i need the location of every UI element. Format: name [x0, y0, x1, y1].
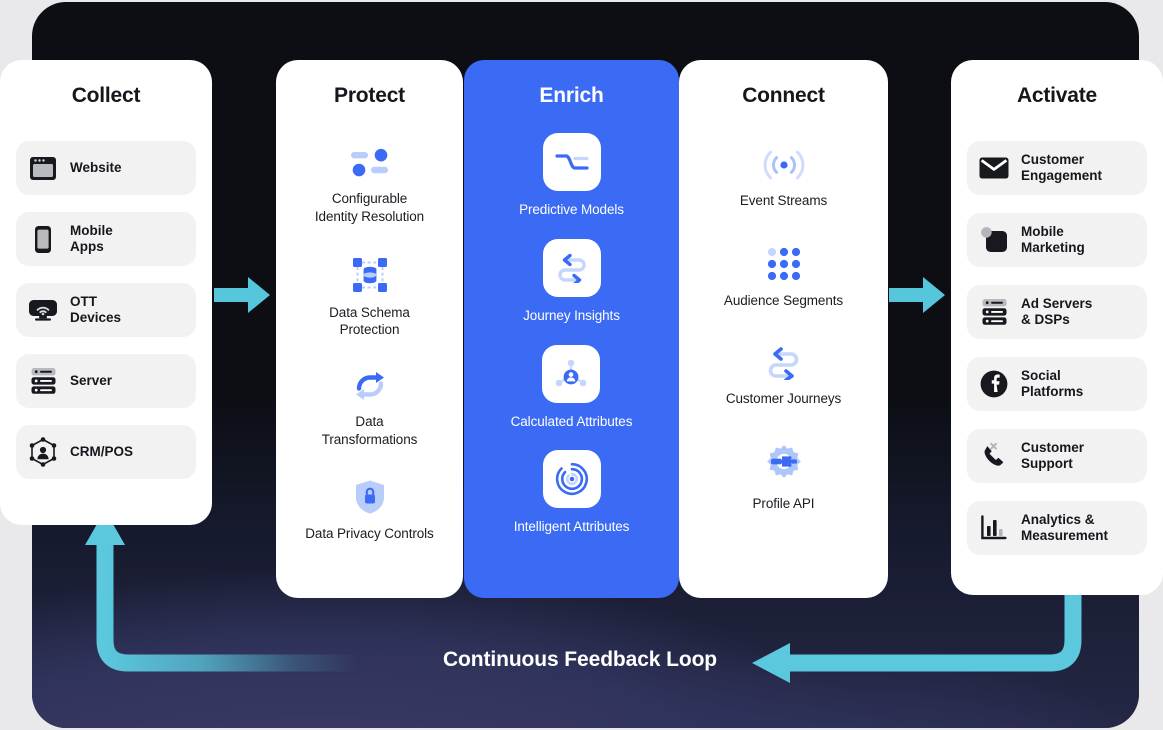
- list-item-label: Social Platforms: [1021, 368, 1083, 401]
- feature-data-privacy-controls[interactable]: Data Privacy Controls: [290, 479, 449, 543]
- database-schema-icon: [351, 256, 389, 294]
- list-item-analytics-measurement[interactable]: Analytics & Measurement: [967, 501, 1147, 555]
- refresh-cycle-icon: [352, 369, 388, 403]
- feature-label: Profile API: [753, 495, 815, 513]
- list-item-ad-servers-dsps[interactable]: Ad Servers & DSPs: [967, 285, 1147, 339]
- arrow-collect-to-protect: [214, 275, 272, 315]
- list-item-label: Customer Support: [1021, 440, 1084, 473]
- feature-label: Customer Journeys: [726, 390, 841, 408]
- feature-predictive-models[interactable]: Predictive Models: [519, 133, 624, 219]
- gear-plug-icon: [763, 443, 805, 485]
- feature-label: Audience Segments: [724, 292, 843, 310]
- list-item-crm-pos[interactable]: CRM/POS: [16, 425, 196, 479]
- list-item-website[interactable]: Website: [16, 141, 196, 195]
- customer-network-icon: [28, 437, 58, 467]
- feature-label: Journey Insights: [523, 307, 620, 325]
- list-item-server[interactable]: Server: [16, 354, 196, 408]
- feature-audience-segments[interactable]: Audience Segments: [693, 246, 874, 310]
- list-item-label: Customer Engagement: [1021, 152, 1102, 185]
- column-title-collect: Collect: [16, 84, 196, 108]
- intelligent-attributes-tile: [543, 450, 601, 508]
- feedback-loop-label: Continuous Feedback Loop: [430, 648, 730, 672]
- step-line-chart-icon: [555, 149, 589, 175]
- feature-label: Predictive Models: [519, 201, 624, 219]
- column-title-connect: Connect: [693, 84, 874, 108]
- feature-label: Configurable Identity Resolution: [315, 190, 424, 226]
- feature-data-schema-protection[interactable]: Data Schema Protection: [290, 256, 449, 340]
- list-item-mobile-marketing[interactable]: Mobile Marketing: [967, 213, 1147, 267]
- streaming-device-icon: [28, 295, 58, 325]
- list-item-customer-engagement[interactable]: Customer Engagement: [967, 141, 1147, 195]
- server-rack-icon: [28, 366, 58, 396]
- feature-label: Event Streams: [740, 192, 827, 210]
- feature-intelligent-attributes[interactable]: Intelligent Attributes: [514, 450, 630, 536]
- predictive-models-tile: [543, 133, 601, 191]
- concentric-target-icon: [555, 462, 589, 496]
- feature-calculated-attributes[interactable]: Calculated Attributes: [511, 345, 633, 431]
- phone-headset-icon: [979, 441, 1009, 471]
- journey-insights-tile: [543, 239, 601, 297]
- list-item-label: Mobile Apps: [70, 223, 113, 256]
- journey-arrows-icon: [765, 346, 803, 380]
- person-node-graph-icon: [554, 358, 588, 390]
- calculated-attributes-tile: [542, 345, 600, 403]
- feature-label: Intelligent Attributes: [514, 518, 630, 536]
- bar-chart-icon: [979, 513, 1009, 543]
- column-connect: Connect Event Streams: [679, 60, 888, 598]
- feature-configurable-identity-resolution[interactable]: Configurable Identity Resolution: [290, 146, 449, 226]
- mobile-push-icon: [979, 225, 1009, 255]
- list-item-ott-devices[interactable]: OTT Devices: [16, 283, 196, 337]
- identity-toggle-icon: [349, 146, 391, 180]
- journey-arrows-icon: [555, 253, 589, 283]
- feature-profile-api[interactable]: Profile API: [693, 443, 874, 513]
- server-rack-icon: [979, 297, 1009, 327]
- list-item-customer-support[interactable]: Customer Support: [967, 429, 1147, 483]
- feature-journey-insights[interactable]: Journey Insights: [523, 239, 620, 325]
- list-item-label: Server: [70, 373, 112, 389]
- feature-label: Calculated Attributes: [511, 413, 633, 431]
- column-enrich: Enrich Predictive Models: [464, 60, 679, 598]
- column-protect: Protect Configurable Identity Resolution: [276, 60, 463, 598]
- column-title-activate: Activate: [967, 84, 1147, 108]
- list-item-label: Website: [70, 160, 122, 176]
- broadcast-signal-icon: [762, 148, 806, 182]
- list-item-label: CRM/POS: [70, 444, 133, 460]
- feature-label: Data Schema Protection: [329, 304, 410, 340]
- envelope-icon: [979, 153, 1009, 183]
- column-activate: Activate Customer Engagement: [951, 60, 1163, 595]
- list-item-label: Analytics & Measurement: [1021, 512, 1108, 545]
- column-title-enrich: Enrich: [478, 84, 665, 108]
- list-item-label: Ad Servers & DSPs: [1021, 296, 1092, 329]
- list-item-label: Mobile Marketing: [1021, 224, 1085, 257]
- feature-label: Data Privacy Controls: [305, 525, 433, 543]
- list-item-label: OTT Devices: [70, 294, 121, 327]
- list-item-social-platforms[interactable]: Social Platforms: [967, 357, 1147, 411]
- column-collect: Collect Website: [0, 60, 212, 525]
- browser-window-icon: [28, 153, 58, 183]
- shield-lock-icon: [354, 479, 386, 515]
- feature-data-transformations[interactable]: Data Transformations: [290, 369, 449, 449]
- list-item-mobile-apps[interactable]: Mobile Apps: [16, 212, 196, 266]
- feature-event-streams[interactable]: Event Streams: [693, 148, 874, 210]
- facebook-icon: [979, 369, 1009, 399]
- column-title-protect: Protect: [290, 84, 449, 108]
- arrow-connect-to-activate: [889, 275, 947, 315]
- dot-grid-icon: [766, 246, 802, 282]
- feature-customer-journeys[interactable]: Customer Journeys: [693, 346, 874, 408]
- feature-label: Data Transformations: [322, 413, 418, 449]
- smartphone-icon: [28, 224, 58, 254]
